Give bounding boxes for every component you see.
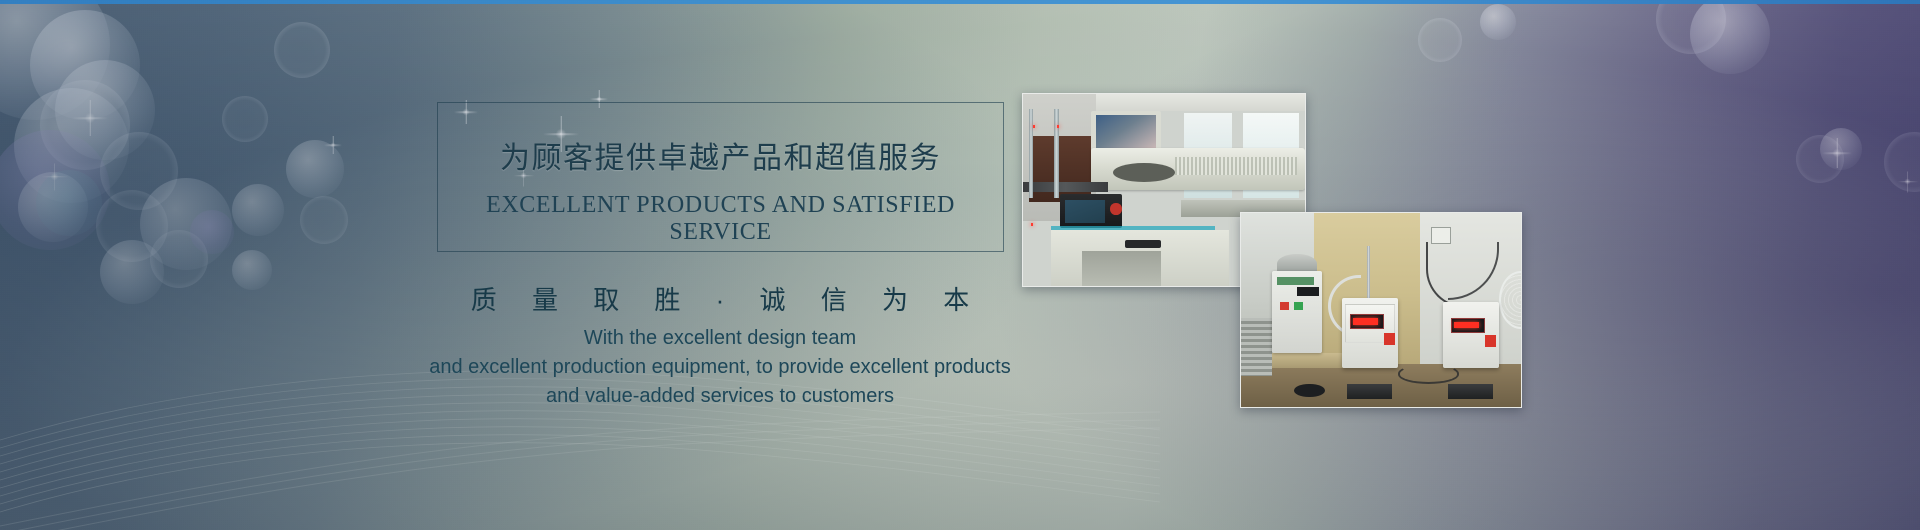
top-accent-bar <box>0 0 1920 4</box>
paragraph-line-1: With the excellent design team <box>330 324 1110 353</box>
photo-terminal-crimping-machines-content <box>1241 213 1521 407</box>
description-paragraph: With the excellent design team and excel… <box>330 324 1110 411</box>
promo-banner: 为顾客提供卓越产品和超值服务 EXCELLENT PRODUCTS AND SA… <box>0 0 1920 530</box>
headline-chinese: 为顾客提供卓越产品和超值服务 <box>437 133 1004 177</box>
paragraph-line-3: and value-added services to customers <box>330 382 1110 411</box>
slogan-chinese: 质 量 取 胜 · 诚 信 为 本 <box>400 280 1040 317</box>
photo-terminal-crimping-machines <box>1240 212 1522 408</box>
headline-english: EXCELLENT PRODUCTS AND SATISFIED SERVICE <box>437 192 1004 246</box>
background-vignette <box>0 0 1920 530</box>
paragraph-line-2: and excellent production equipment, to p… <box>330 353 1110 382</box>
